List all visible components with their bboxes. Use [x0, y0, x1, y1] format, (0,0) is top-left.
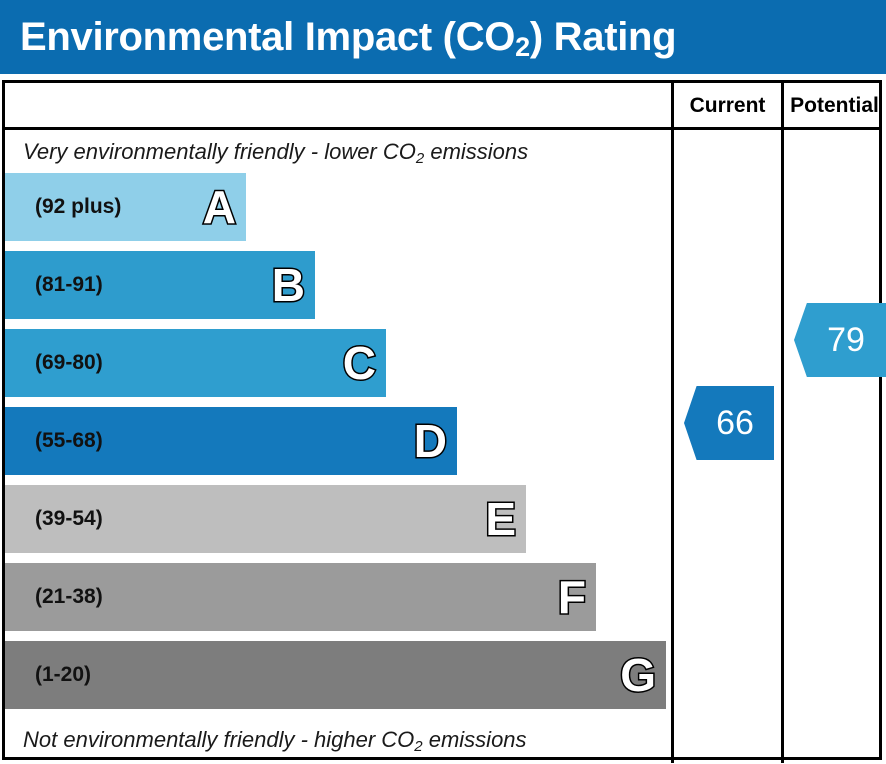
band-range-b: (81-91) [35, 251, 103, 319]
rating-band-f: (21-38) F [5, 563, 596, 631]
caption-bottom-prefix: Not environmentally friendly - higher CO [23, 727, 414, 752]
potential-rating-marker: 79 [794, 303, 886, 377]
caption-top-suffix: emissions [424, 139, 528, 164]
current-rating-value: 66 [684, 386, 774, 460]
rating-band-a: (92 plus) A [5, 173, 246, 241]
rating-band-c: (69-80) C [5, 329, 386, 397]
band-range-e: (39-54) [35, 485, 103, 553]
page-title-suffix: ) Rating [530, 15, 676, 59]
rating-band-d: (55-68) D [5, 407, 457, 475]
header-row-divider [671, 127, 882, 130]
current-rating-marker: 66 [684, 386, 774, 460]
band-range-f: (21-38) [35, 563, 103, 631]
column-header-current: Current [674, 91, 781, 121]
band-range-d: (55-68) [35, 407, 103, 475]
band-letter-e: E [485, 485, 516, 553]
potential-rating-value: 79 [794, 303, 886, 377]
column-header-potential: Potential [784, 91, 885, 121]
band-letter-a: A [203, 173, 236, 241]
page-title-subscript: 2 [515, 32, 530, 62]
caption-bottom: Not environmentally friendly - higher CO… [23, 723, 527, 757]
band-letter-b: B [272, 251, 305, 319]
page-title: Environmental Impact (CO2) Rating [20, 8, 676, 70]
column-divider-potential [781, 83, 784, 763]
epc-environmental-impact-chart: Environmental Impact (CO2) Rating Curren… [0, 0, 886, 764]
rating-table: Current Potential Very environmentally f… [2, 80, 882, 760]
band-letter-f: F [558, 563, 586, 631]
band-letter-g: G [620, 641, 656, 709]
caption-top: Very environmentally friendly - lower CO… [23, 135, 528, 169]
band-range-a: (92 plus) [35, 173, 121, 241]
caption-top-subscript: 2 [416, 150, 424, 167]
caption-top-prefix: Very environmentally friendly - lower CO [23, 139, 416, 164]
caption-bottom-suffix: emissions [423, 727, 527, 752]
header-row-divider-left [5, 127, 671, 130]
page-title-prefix: Environmental Impact (CO [20, 15, 515, 59]
rating-band-g: (1-20) G [5, 641, 666, 709]
band-range-g: (1-20) [35, 641, 91, 709]
band-range-c: (69-80) [35, 329, 103, 397]
caption-bottom-subscript: 2 [414, 738, 422, 755]
band-letter-c: C [343, 329, 376, 397]
band-letter-d: D [414, 407, 447, 475]
column-divider-current [671, 83, 674, 763]
rating-band-b: (81-91) B [5, 251, 315, 319]
chart-title-banner: Environmental Impact (CO2) Rating [0, 0, 886, 74]
rating-band-e: (39-54) E [5, 485, 526, 553]
